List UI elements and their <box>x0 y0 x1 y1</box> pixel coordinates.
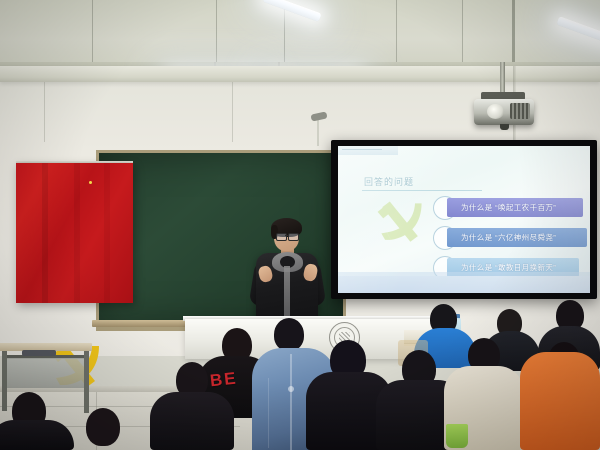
projector-vent <box>510 103 530 119</box>
projection-screen: 回答的问题 为什么是 “唤起工农千百万” 为什么是 “六亿神州尽舜尧” 为什么是… <box>338 146 590 293</box>
green-cup <box>446 424 468 448</box>
presenter-glasses-right <box>288 233 299 241</box>
projector-foot <box>500 124 509 130</box>
list-item <box>86 408 120 446</box>
camera-mount <box>317 118 319 146</box>
slide-footer <box>338 276 590 293</box>
side-desk-shelf <box>2 358 86 388</box>
hammer-and-sickle-watermark <box>372 198 430 250</box>
side-desk-leg-left <box>2 351 7 411</box>
shirt-text: BE <box>209 369 239 392</box>
list-item <box>0 420 74 450</box>
student-orange-jacket <box>520 352 600 450</box>
presenter-glasses-bridge <box>285 235 288 236</box>
projector-pole <box>500 62 505 94</box>
slide-title: 回答的问题 <box>364 175 414 188</box>
slide-bullet-text-2: 为什么是 “六亿神州尽舜尧” <box>447 228 587 247</box>
side-desk-object <box>22 350 56 356</box>
cpc-party-flag <box>16 163 133 303</box>
slide-title-rule <box>362 190 482 191</box>
side-desk-leg-right <box>84 351 89 413</box>
slide-toolbar <box>338 146 398 155</box>
slide-bullet-text-1: 为什么是 “唤起工农千百万” <box>447 198 583 217</box>
projector-lens-icon <box>487 104 504 119</box>
list-item <box>274 318 304 351</box>
wall-beam <box>0 66 600 82</box>
list-item <box>150 392 234 450</box>
classroom-photo: 回答的问题 为什么是 “唤起工农千百万” 为什么是 “六亿神州尽舜尧” 为什么是… <box>0 0 600 450</box>
